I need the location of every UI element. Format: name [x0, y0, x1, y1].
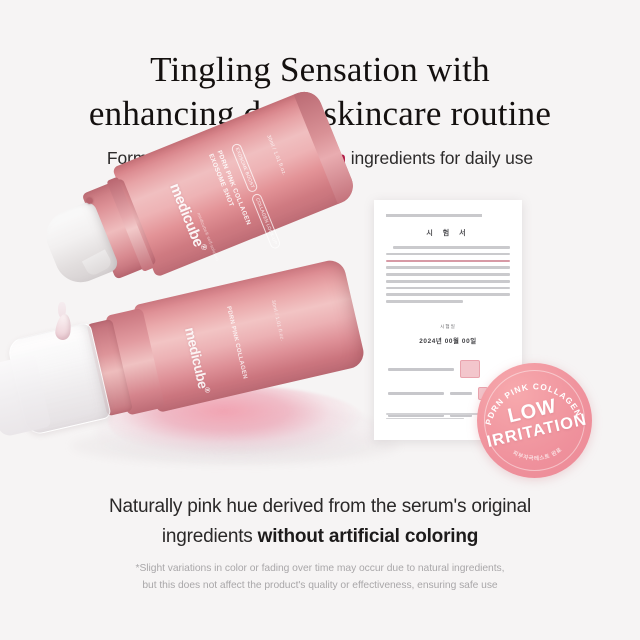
bottle-lower-cap-inner: [0, 354, 51, 438]
tagline-line-2: ingredients without artificial coloring: [0, 522, 640, 552]
signature-line: [388, 392, 444, 395]
subheadline-suffix: ingredients for daily use: [346, 148, 533, 168]
certificate-body-line: [386, 273, 510, 276]
certificate-title: 시 험 서: [374, 228, 522, 238]
bottle-upper-volume: 30ml / 1.01 fl.oz.: [265, 134, 287, 177]
bottle-tag-2: COLLAGEN LOCK-UP: [251, 193, 282, 250]
certificate-body-line: [393, 246, 510, 249]
signature-line: [388, 368, 454, 371]
disclaimer-line-2: but this does not affect the product's q…: [0, 577, 640, 594]
certificate-body-line: [386, 300, 463, 303]
tagline-bold: without artificial coloring: [258, 526, 479, 547]
headline-line-1: Tingling Sensation with: [0, 48, 640, 92]
bottle-lower-volume: 30ml / 1.01 fl.oz.: [270, 299, 285, 341]
certificate-body-line: [386, 266, 510, 269]
tagline-plain: ingredients: [162, 526, 258, 547]
certificate-date-label: 시험일: [374, 324, 522, 330]
certificate-body: [386, 246, 510, 307]
disclaimer-line-1: *Slight variations in color or fading ov…: [0, 560, 640, 577]
certificate-body-line: [386, 293, 510, 296]
product-photo: medicube® PDRN PINK COLLAGEN 30ml / 1.01…: [0, 178, 640, 478]
bottle-lower-product-name: PDRN PINK COLLAGEN: [224, 305, 249, 380]
certificate-date: 2024년 00월 00일: [374, 336, 522, 345]
disclaimer: *Slight variations in color or fading ov…: [0, 560, 640, 594]
certificate-body-line: [386, 280, 510, 283]
low-irritation-badge: PDRN PINK COLLAGEN 피부자극테스트 완료 LOW IRRITA…: [477, 363, 592, 478]
marketing-image-canvas: Tingling Sensation with enhancing daily …: [0, 0, 640, 640]
certificate-header-line: [386, 214, 482, 217]
certificate-body-line: [386, 287, 510, 290]
tagline-line-1: Naturally pink hue derived from the seru…: [0, 492, 640, 522]
certificate-date-block: 시험일 2024년 00월 00일: [374, 324, 522, 345]
certificate-body-line: [386, 253, 510, 256]
footnote-line: [386, 418, 464, 420]
tagline: Naturally pink hue derived from the seru…: [0, 492, 640, 552]
certificate-body-line: [386, 260, 510, 263]
